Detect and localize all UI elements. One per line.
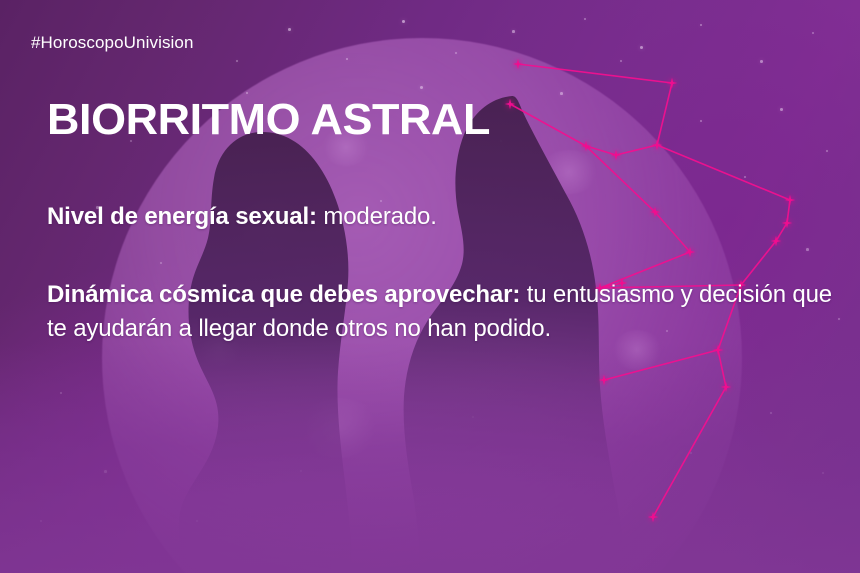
constellation-star xyxy=(652,140,662,150)
horoscope-card: #HoroscopoUnivision BIORRITMO ASTRAL Niv… xyxy=(0,0,860,573)
constellation-star xyxy=(599,375,609,385)
constellation-star xyxy=(611,150,621,160)
constellation-line xyxy=(604,350,718,380)
constellation-line xyxy=(616,145,657,155)
constellation-star xyxy=(713,345,723,355)
constellation-star xyxy=(513,59,523,69)
constellation-line xyxy=(718,350,726,387)
constellation-star xyxy=(505,99,515,109)
constellation-line xyxy=(653,387,726,517)
constellation-line xyxy=(518,64,672,83)
constellation-star xyxy=(648,512,658,522)
body-text-block: Nivel de energía sexual: moderado. Dinám… xyxy=(47,200,847,346)
dynamic-line: Dinámica cósmica que debes aprovechar: t… xyxy=(47,278,847,346)
energy-value: moderado. xyxy=(317,203,437,230)
energy-label: Nivel de energía sexual: xyxy=(47,203,317,230)
hashtag-label: #HoroscopoUnivision xyxy=(31,33,194,53)
dynamic-label: Dinámica cósmica que debes aprovechar: xyxy=(47,281,520,308)
energy-line: Nivel de energía sexual: moderado. xyxy=(47,200,847,234)
constellation-line xyxy=(510,104,586,146)
constellation-line xyxy=(657,145,790,200)
constellation-star xyxy=(721,382,731,392)
constellation-line xyxy=(657,83,672,145)
page-title: BIORRITMO ASTRAL xyxy=(47,95,490,145)
constellation-star xyxy=(667,78,677,88)
